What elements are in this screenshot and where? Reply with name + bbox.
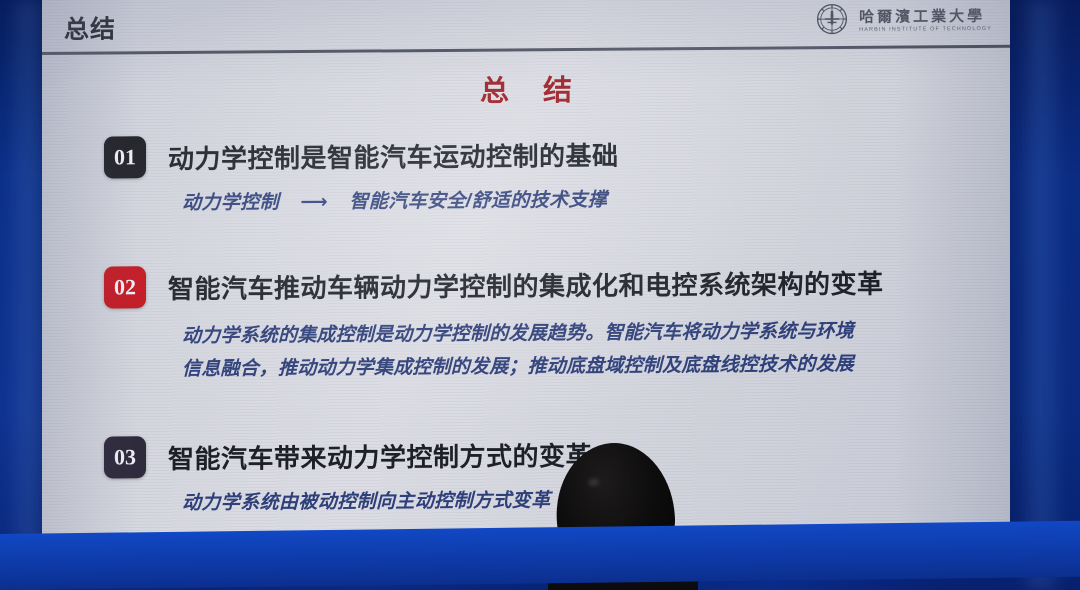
point-number-badge: 02 bbox=[104, 266, 146, 308]
university-name-cn: 哈爾濱工業大學 bbox=[859, 8, 985, 25]
summary-point-03: 03 智能汽车带来动力学控制方式的变革 动力学系统由被动控制向主动控制方式变革 bbox=[104, 430, 992, 519]
summary-point-01: 01 动力学控制是智能汽车运动控制的基础 动力学控制 ⟶ 智能汽车安全/舒适的技… bbox=[104, 130, 992, 219]
hit-university-crest-icon bbox=[814, 1, 850, 42]
point-subtext: 动力学控制 ⟶ 智能汽车安全/舒适的技术支撑 bbox=[104, 183, 992, 219]
point-paragraph: 动力学系统的集成控制是动力学控制的发展趋势。智能汽车将动力学系统与环境 信息融合… bbox=[104, 314, 992, 387]
university-brand: 哈爾濱工業大學 HARBIN INSTITUTE OF TECHNOLOGY bbox=[814, 0, 992, 42]
point-subtext: 动力学系统由被动控制向主动控制方式变革 bbox=[104, 483, 992, 519]
screenshot-stage: 总结 bbox=[0, 0, 1080, 590]
summary-point-02: 02 智能汽车推动车辆动力学控制的集成化和电控系统架构的变革 动力学系统的集成控… bbox=[104, 260, 992, 387]
point-heading-row: 03 智能汽车带来动力学控制方式的变革 bbox=[104, 430, 992, 479]
header-title: 总结 bbox=[64, 9, 116, 45]
arrow-icon: ⟶ bbox=[300, 192, 328, 213]
point-heading-text: 智能汽车推动车辆动力学控制的集成化和电控系统架构的变革 bbox=[168, 263, 884, 305]
point-heading-row: 01 动力学控制是智能汽车运动控制的基础 bbox=[104, 130, 992, 179]
point-subtext-after: 智能汽车安全/舒适的技术支撑 bbox=[349, 190, 607, 213]
point-heading-row: 02 智能汽车推动车辆动力学控制的集成化和电控系统架构的变革 bbox=[104, 260, 992, 309]
point-subtext-before: 动力学控制 bbox=[182, 192, 279, 214]
point-number-badge: 03 bbox=[104, 436, 146, 478]
point-heading-text: 动力学控制是智能汽车运动控制的基础 bbox=[168, 135, 619, 175]
slide-header: 总结 bbox=[42, 0, 1010, 53]
point-heading-text: 智能汽车带来动力学控制方式的变革 bbox=[168, 435, 592, 475]
presentation-slide: 总结 bbox=[42, 0, 1010, 553]
paragraph-line: 信息融合，推动动力学集成控制的发展；推动底盘域控制及底盘线控技术的发展 bbox=[182, 347, 982, 386]
university-name-en: HARBIN INSTITUTE OF TECHNOLOGY bbox=[859, 27, 992, 34]
slide-title: 总 结 bbox=[42, 64, 1010, 113]
header-divider bbox=[42, 45, 1010, 55]
background-light-streak bbox=[1018, 0, 1064, 590]
point-number-badge: 01 bbox=[104, 136, 146, 178]
